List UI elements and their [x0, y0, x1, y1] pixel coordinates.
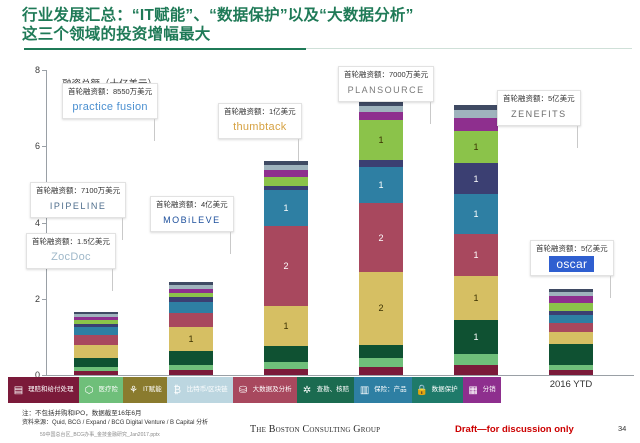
bar-segment-value: 1	[454, 293, 498, 303]
legend-item-2[interactable]: ⚘IT赋能	[123, 377, 167, 403]
bar-segment	[549, 344, 593, 365]
company-logo: ZocDoc	[32, 249, 110, 264]
x-axis	[46, 375, 634, 376]
legend-item-5[interactable]: ✲查勘、核赔	[297, 377, 355, 403]
bar-2016-YTD	[549, 289, 593, 375]
bar-segment-value: 1	[264, 203, 308, 213]
bar-segment	[169, 351, 213, 364]
bar-2015: 111111	[454, 105, 498, 375]
y-tick-4: 4	[22, 218, 40, 228]
bar-segment	[74, 327, 118, 335]
callout-caption: 首轮融资额：7100万美元	[36, 186, 120, 196]
slide-canvas: 行业发展汇总：“IT赋能”、“数据保护”以及“大数据分析” 这三个领域的投资增幅…	[0, 0, 640, 443]
callout-leader-line	[610, 276, 611, 298]
y-tick-6: 6	[22, 141, 40, 151]
y-tick-mark	[42, 146, 46, 147]
legend-item-label: 医疗险	[99, 386, 119, 394]
bar-segment	[359, 367, 403, 375]
legend-item-3[interactable]: ₿比特币/区块链	[167, 377, 233, 403]
bar-segment	[454, 365, 498, 375]
x-tick-2016-YTD: 2016 YTD	[536, 379, 606, 390]
legend-item-label: IT赋能	[143, 386, 162, 394]
bar-segment-value: 1	[359, 135, 403, 145]
callout-5[interactable]: 首轮融资额：7000万美元PLANSOURCE	[338, 66, 434, 102]
bar-2013: 121	[264, 161, 308, 375]
company-logo-text: MOBiLEVE	[163, 215, 221, 225]
bar-segment	[549, 332, 593, 343]
draft-stamp: Draft—for discussion only	[455, 424, 574, 435]
bar-segment-value: 1	[454, 209, 498, 219]
callout-leader-line	[122, 218, 123, 240]
legend-item-label: 大数据及分析	[253, 386, 292, 394]
bar-segment-value: 1	[454, 250, 498, 260]
bar-segment-value: 1	[169, 334, 213, 344]
bar-segment-value: 2	[264, 261, 308, 271]
bar-segment	[264, 346, 308, 361]
legend-item-label: 数据保护	[432, 386, 458, 394]
legend-item-1[interactable]: ⬡医疗险	[79, 377, 124, 403]
bar-segment: 1	[454, 276, 498, 320]
company-logo: thumbtack	[224, 119, 296, 134]
company-logo-text: practice fusion	[72, 101, 147, 113]
callout-6[interactable]: 首轮融资额：5亿美元ZENEFITS	[497, 90, 581, 126]
callout-caption: 首轮融资额：1.5亿美元	[32, 237, 110, 247]
legend-item-label: 保险：产品	[374, 386, 407, 394]
legend-item-label: 查勘、核赔	[317, 386, 350, 394]
company-logo: ZENEFITS	[503, 106, 575, 121]
bar-segment	[264, 170, 308, 177]
chart-legend: ▤理赔和给付处理⬡医疗险⚘IT赋能₿比特币/区块链⛁大数据及分析✲查勘、核赔▥保…	[8, 377, 501, 403]
footnote-2: 资料来源：Quid, BCG / Expand / BCG Digital Ve…	[22, 419, 208, 428]
company-logo-text: ZENEFITS	[511, 109, 567, 119]
database-icon: ⛁	[237, 383, 250, 397]
bar-2014: 1122	[359, 95, 403, 375]
callout-leader-line	[154, 119, 155, 141]
legend-item-6[interactable]: ▥保险：产品	[354, 377, 412, 403]
company-logo: PLANSOURCE	[344, 82, 428, 97]
bar-segment	[454, 354, 498, 365]
bar-segment	[549, 303, 593, 311]
bar-segment	[454, 110, 498, 118]
y-tick-8: 8	[22, 65, 40, 75]
legend-item-label: 理赔和给付处理	[28, 386, 74, 394]
company-logo-text: ZocDoc	[51, 251, 91, 263]
company-logo: practice fusion	[68, 99, 152, 114]
bar-segment: 1	[359, 120, 403, 160]
bar-segment-value: 1	[454, 332, 498, 342]
y-tick-2: 2	[22, 294, 40, 304]
company-logo-text: PLANSOURCE	[348, 85, 425, 95]
bar-segment: 1	[264, 306, 308, 346]
bar-segment: 1	[454, 234, 498, 276]
title-line-2: 这三个领域的投资增幅最大	[22, 25, 632, 44]
network-node-icon: ⚘	[127, 383, 140, 397]
callout-caption: 首轮融资额：5亿美元	[503, 94, 575, 104]
callout-2[interactable]: 首轮融资额：1.5亿美元ZocDoc	[26, 233, 116, 269]
bar-segment	[359, 358, 403, 368]
bar-segment	[74, 335, 118, 345]
bar-segment: 1	[264, 190, 308, 226]
bar-segment: 1	[454, 194, 498, 234]
document-stack-icon: ▤	[12, 383, 25, 397]
bar-segment: 1	[454, 131, 498, 163]
shield-dollar-icon: ⬡	[83, 383, 96, 397]
legend-item-7[interactable]: 🔒数据保护	[412, 377, 463, 403]
legend-item-4[interactable]: ⛁大数据及分析	[233, 377, 297, 403]
bar-segment	[74, 358, 118, 368]
bar-chart-icon: ▥	[358, 383, 371, 397]
bar-segment-value: 2	[359, 233, 403, 243]
title-line-1: 行业发展汇总：“IT赋能”、“数据保护”以及“大数据分析”	[22, 6, 632, 25]
bar-segment	[549, 323, 593, 333]
page-number: 34	[618, 424, 626, 433]
callout-leader-line	[577, 126, 578, 148]
bar-segment: 1	[169, 327, 213, 352]
y-axis	[46, 70, 47, 375]
gear-sun-icon: ✲	[301, 383, 314, 397]
bar-segment	[264, 369, 308, 375]
bar-2012: 1	[169, 282, 213, 375]
callout-leader-line	[430, 102, 431, 124]
legend-item-label: 比特币/区块链	[187, 386, 228, 394]
bar-segment	[264, 177, 308, 185]
legend-item-8[interactable]: ▦分销	[463, 377, 501, 403]
y-tick-mark	[42, 70, 46, 71]
bar-segment-value: 1	[359, 180, 403, 190]
lock-icon: 🔒	[416, 383, 429, 397]
legend-item-label: 分销	[483, 386, 496, 394]
callout-7[interactable]: 首轮融资额：5亿美元oscar	[530, 240, 614, 276]
grid-blocks-icon: ▦	[467, 383, 480, 397]
bar-segment	[549, 296, 593, 303]
bar-segment	[264, 362, 308, 370]
bar-segment: 1	[359, 167, 403, 203]
bar-segment-value: 2	[359, 303, 403, 313]
bar-segment	[169, 370, 213, 375]
callout-4[interactable]: 首轮融资额：1亿美元thumbtack	[218, 103, 302, 139]
page-title: 行业发展汇总：“IT赋能”、“数据保护”以及“大数据分析” 这三个领域的投资增幅…	[22, 6, 632, 44]
bar-segment	[549, 315, 593, 323]
bar-segment-value: 1	[454, 142, 498, 152]
bar-segment	[169, 313, 213, 326]
callout-caption: 首轮融资额：4亿美元	[156, 200, 228, 210]
callout-caption: 首轮融资额：7000万美元	[344, 70, 428, 80]
bar-segment: 2	[359, 272, 403, 344]
bar-segment	[359, 160, 403, 167]
bar-segment-value: 1	[454, 174, 498, 184]
bar-segment	[359, 345, 403, 358]
company-logo-text: thumbtack	[233, 121, 286, 133]
bar-segment	[74, 371, 118, 375]
callout-caption: 首轮融资额：8550万美元	[68, 87, 152, 97]
bar-segment: 2	[359, 203, 403, 272]
callout-caption: 首轮融资额：1亿美元	[224, 107, 296, 117]
callout-caption: 首轮融资额：5亿美元	[536, 244, 608, 254]
y-tick-mark	[42, 375, 46, 376]
callout-leader-line	[230, 232, 231, 254]
bar-segment: 1	[454, 320, 498, 354]
bar-segment	[549, 370, 593, 375]
callout-leader-line	[112, 269, 113, 291]
bar-segment	[169, 302, 213, 313]
callout-1[interactable]: 首轮融资额：7100万美元IPIPELINE	[30, 182, 126, 218]
company-logo-text: oscar	[549, 256, 594, 272]
company-logo-text: IPIPELINE	[50, 201, 107, 211]
company-logo: oscar	[536, 256, 608, 271]
company-logo: IPIPELINE	[36, 198, 120, 213]
callout-leader-line	[298, 139, 299, 161]
footnote-filename: 59中国总台区_BCG办事_金技金融研究_Jan2017.pptx	[40, 431, 160, 438]
callout-0[interactable]: 首轮融资额：8550万美元practice fusion	[62, 83, 158, 119]
bar-segment: 2	[264, 226, 308, 306]
bar-segment-value: 1	[264, 321, 308, 331]
y-tick-mark	[42, 299, 46, 300]
callout-3[interactable]: 首轮融资额：4亿美元MOBiLEVE	[150, 196, 234, 232]
bar-segment	[359, 112, 403, 120]
y-tick-mark	[42, 223, 46, 224]
bar-2011	[74, 312, 118, 375]
bar-segment	[454, 118, 498, 131]
company-logo: MOBiLEVE	[156, 212, 228, 227]
bitcoin-icon: ₿	[171, 383, 184, 397]
footnote-1: 注：不包括并购和IPO，数据截至16年6月	[22, 410, 142, 419]
bar-segment: 1	[454, 163, 498, 194]
title-divider	[24, 48, 306, 50]
bar-segment	[74, 345, 118, 358]
legend-item-0[interactable]: ▤理赔和给付处理	[8, 377, 79, 403]
bcg-brand: The Boston Consulting Group	[250, 424, 380, 435]
